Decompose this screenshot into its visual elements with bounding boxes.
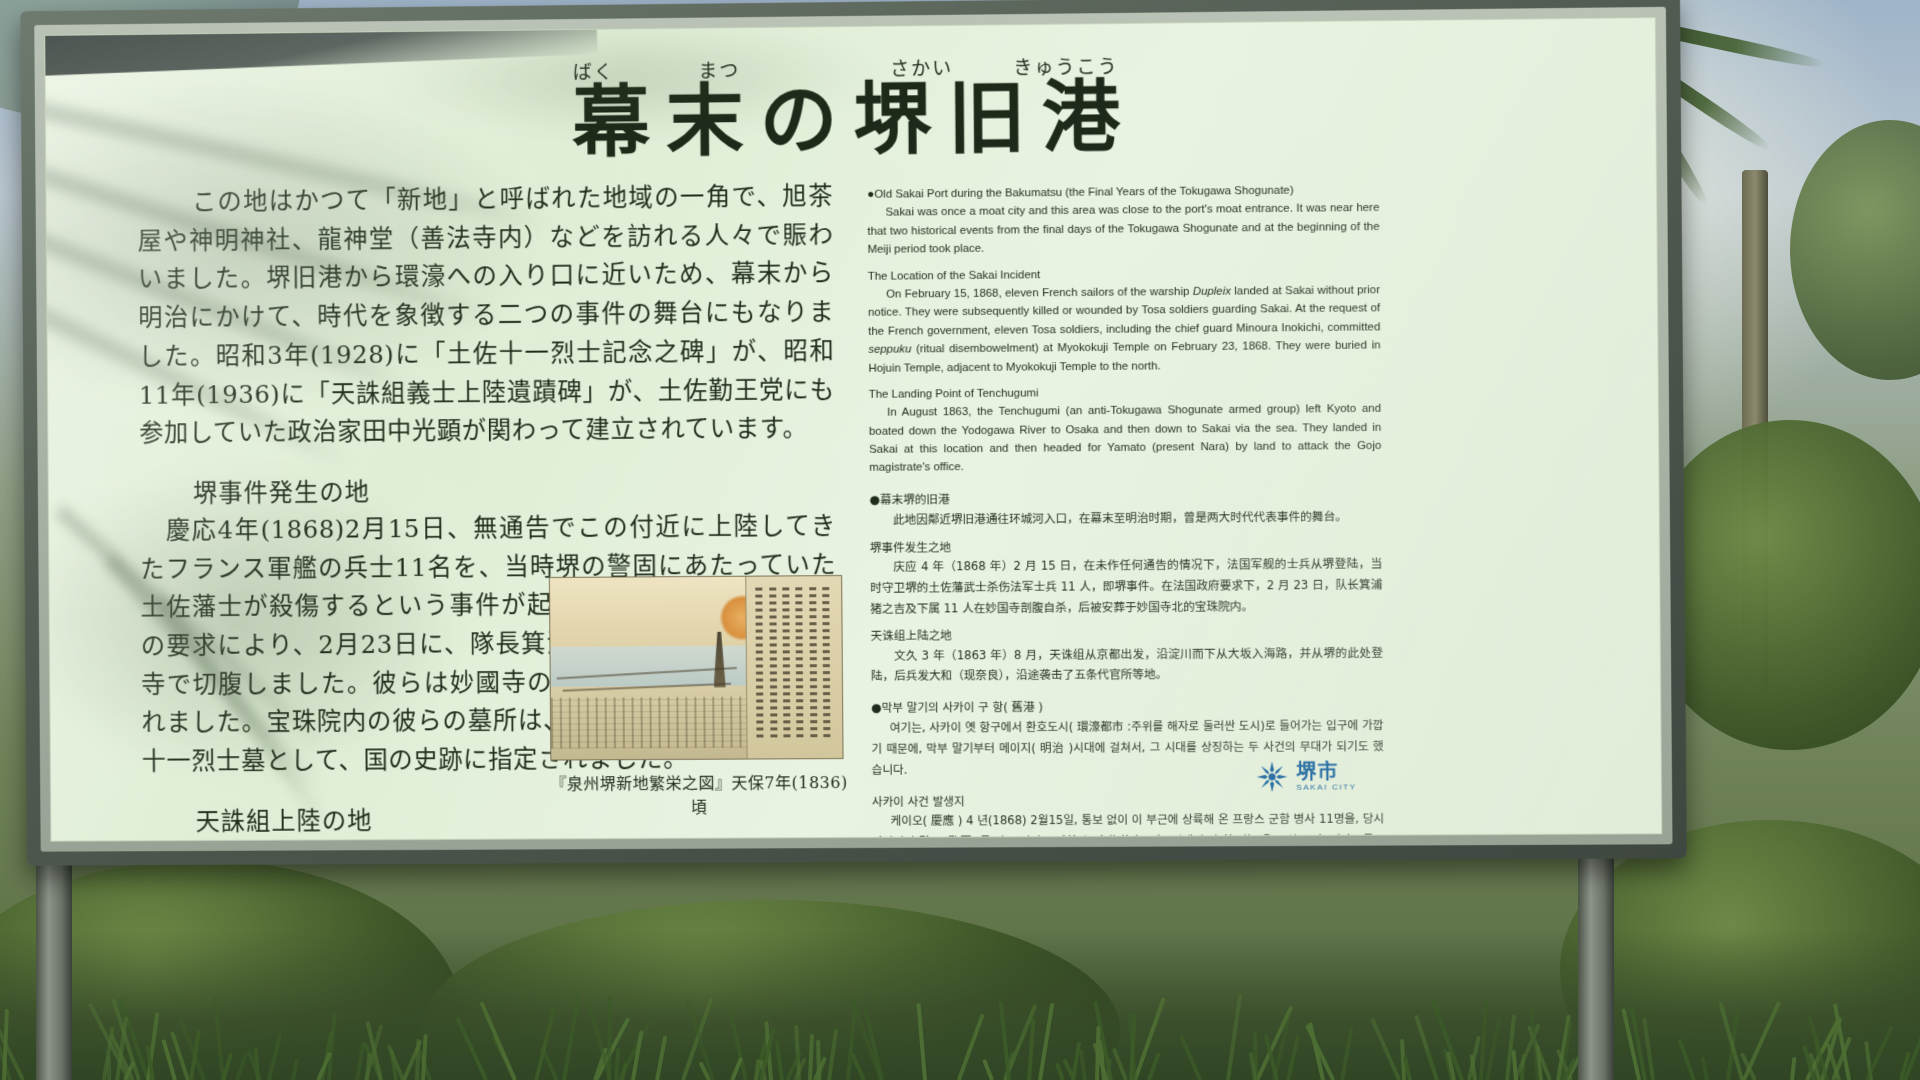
en-body-2-a: On February 15, 1868, eleven French sail… [886,286,1193,301]
en-body-2-ship: Dupleix [1193,285,1231,297]
grass-blade [1055,1062,1065,1080]
en-body-1: Sakai was once a moat city and this area… [867,199,1380,259]
grass-blade [1866,1025,1895,1080]
grass-blade [808,1034,814,1080]
print-text-panel [745,576,843,758]
sign-frame-inner: ばく まつ さかい きゅうこう 幕末の堺旧港 この地はかつて「新地」と呼ばれた地… [34,7,1672,852]
grass-blade [1027,1018,1035,1080]
zh-body-3: 文久 3 年（1863 年）8 月，天诛组从京都出发，沿淀川而下从大坂入海路，并… [871,642,1383,686]
page-title: 幕末の堺旧港 [46,71,1656,170]
en-body-2-c: (ritual disembowelment) at Myokokuji Tem… [868,339,1380,374]
print-text-column-6 [822,587,830,740]
grass-blade [1485,1016,1501,1080]
grass-blade [1340,1027,1353,1080]
grass-blade [1425,1049,1439,1080]
grass-blade [827,1028,838,1080]
sakai-city-emblem-icon [1255,760,1289,794]
en-head-1-text: Old Sakai Port during the Bakumatsu (the… [874,185,1293,201]
grass-blade [655,1035,667,1080]
ko-head-1-text: 막부 말기의 사카이 구 항( 舊港 ) [882,700,1043,715]
multilingual-column: ●Old Sakai Port during the Bakumatsu (th… [867,180,1386,842]
grass-blade [1111,1048,1127,1080]
zh-body-2: 庆应 4 年（1868 年）2 月 15 日，在未作任何通告的情况下，法国军舰的… [870,554,1383,619]
grass-blade [235,1052,248,1080]
grass-blade [1370,1018,1401,1080]
sakai-city-logo: 堺市 SAKAI CITY [1255,759,1357,794]
logo-name-en: SAKAI CITY [1296,783,1357,791]
grass-blade [253,1048,259,1080]
en-body-3: In August 1863, the Tenchugumi (an anti-… [869,400,1382,478]
grass-blade [1677,1039,1695,1080]
grass-blade [1179,1034,1202,1080]
jp-section1-heading: 堺事件発生の地 [139,470,835,510]
print-text-column-2 [769,587,777,740]
grass-blade [267,1034,282,1080]
en-body-2: On February 15, 1868, eleven French sail… [868,281,1381,378]
grass-blade [982,1059,994,1080]
content-columns: この地はかつて「新地」と呼ばれた地域の一角で、旭茶屋や神明神社、龍神堂（善法寺内… [46,169,1661,842]
illustration-caption: 『泉州堺新地繁栄之図』天保7年(1836)頃 [544,769,854,818]
logo-name-jp: 堺市 [1296,761,1357,781]
print-text-column-5 [809,587,817,740]
bullet-dot-icon-zh: ● [869,493,880,507]
ko-body-2: 케이오( 慶應 ) 4 년(1868) 2월15일, 통보 없이 이 부근에 상… [872,809,1385,842]
jp-intro-paragraph: この地はかつて「新地」と呼ばれた地域の一角で、旭茶屋や神明神社、龍神堂（善法寺内… [137,177,835,453]
grass-blade [620,1062,628,1080]
grass-blade [1903,1008,1920,1080]
print-text-column-1 [755,587,763,740]
logo-text-block: 堺市 SAKAI CITY [1296,761,1357,791]
zh-body-1: 此地因鄰近堺旧港通往环城河入口，在幕末至明治时期，曾是两大时代代表事件的舞台。 [870,506,1382,530]
grass-blade [850,1051,866,1080]
grass-blade [1701,1057,1709,1080]
woodblock-print-illustration [549,575,844,761]
sign-frame: ばく まつ さかい きゅうこう 幕末の堺旧港 この地はかつて「新地」と呼ばれた地… [20,0,1686,866]
information-signboard: ばく まつ さかい きゅうこう 幕末の堺旧港 この地はかつて「新地」と呼ばれた地… [18,2,1678,1022]
grass-blade [1286,1036,1300,1080]
grass-blade [455,1017,488,1080]
sign-panel: ばく まつ さかい きゅうこう 幕末の堺旧港 この地はかつて「新地」と呼ばれた地… [44,17,1662,842]
grass-blade [957,1014,985,1080]
grass-blade [816,1039,821,1080]
grass-blade [1079,1049,1087,1080]
grass-blade [775,1040,784,1080]
grass-blade [291,1058,299,1080]
zh-head-1-text: 幕末堺的旧港 [880,492,950,507]
grass-blade [355,1042,365,1080]
grass-blade [1790,1057,1796,1080]
grass-blade [1147,1052,1161,1080]
print-text-column-3 [782,587,790,740]
en-body-2-seppuku: seppuku [868,343,911,355]
print-text-column-4 [795,587,803,740]
bullet-dot-icon-ko: ● [871,701,882,715]
